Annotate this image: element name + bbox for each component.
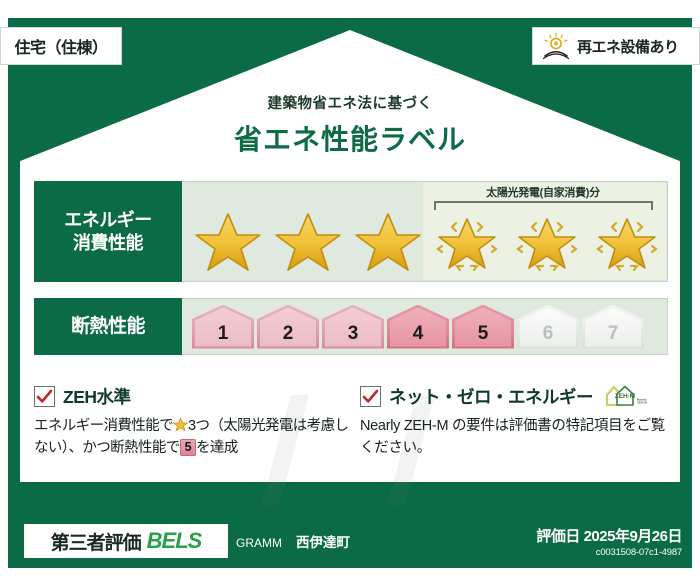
evaluation-code: c0031508-07c1-4987: [536, 547, 682, 558]
footer-evaluation-info: 評価日 2025年9月26日 c0031508-07c1-4987: [536, 525, 692, 558]
insulation-marker: 1: [192, 305, 254, 349]
insulation-marker-num: 1: [218, 323, 229, 345]
star-item: [268, 206, 348, 278]
insulation-row-value: 1 2 3 4 5 6 7: [182, 298, 668, 355]
footer-bar: 第三者評価 BELS GRAMM 西伊達町 評価日 2025年9月26日 c00…: [8, 517, 692, 565]
insulation-key-label: 断熱性能: [71, 315, 145, 339]
title-subtitle: 建築物省エネ法に基づく: [0, 92, 700, 113]
star-item-solar: [427, 206, 507, 278]
star-item-solar: [587, 206, 667, 278]
star-item: [348, 206, 428, 278]
insulation-marker-num: 2: [283, 323, 294, 345]
insulation-marker-strip: 1 2 3 4 5 6 7: [192, 303, 659, 350]
insulation-marker-num: 4: [413, 323, 424, 345]
svg-text:ZEH·M: ZEH·M: [615, 393, 635, 400]
zeh-body-part3: を達成: [196, 440, 238, 456]
insulation-performance-row: 断熱性能 1 2 3 4 5 6 7: [34, 298, 668, 355]
zeh-body-part1: エネルギー消費性能で: [34, 418, 173, 434]
star-rating-strip: [182, 203, 667, 281]
zeh-standard-panel: ZEH水準 エネルギー消費性能で3つ（太陽光発電は考慮しない）、かつ断熱性能で5…: [34, 383, 350, 460]
solar-bracket: [434, 201, 653, 210]
energy-performance-label: 住宅（住棟） 再エネ設備あり 建築物省エネ法に基づく 省エネ性能ラベル: [0, 0, 700, 583]
checkbox-net-zero-energy[interactable]: [360, 386, 381, 407]
evaluation-date: 評価日 2025年9月26日: [536, 525, 682, 546]
insulation-marker: 7: [582, 305, 644, 349]
insulation-marker: 6: [517, 305, 579, 349]
energy-performance-row: エネルギー 消費性能 太陽光発電(自家消費)分: [34, 181, 668, 282]
zeh-standard-title: ZEH水準: [63, 384, 131, 409]
sun-solar-icon: [541, 32, 571, 60]
energy-key-line2: 消費性能: [73, 232, 143, 255]
insulation-marker: 2: [257, 305, 319, 349]
net-zero-title: ネット・ゼロ・エネルギー: [389, 384, 593, 409]
insulation-marker-num: 5: [478, 323, 489, 345]
insulation-marker-num: 7: [608, 323, 619, 345]
insulation-marker-num: 6: [543, 323, 554, 345]
insulation-marker: 5: [452, 305, 514, 349]
zeh-standard-body: エネルギー消費性能で3つ（太陽光発電は考慮しない）、かつ断熱性能で5を達成: [34, 416, 350, 460]
renewable-label: 再エネ設備あり: [577, 36, 679, 57]
star-icon: [173, 417, 188, 432]
star-item: [188, 206, 268, 278]
insulation-row-key: 断熱性能: [34, 298, 182, 355]
bels-logo-text: BELS: [147, 528, 202, 554]
energy-row-key: エネルギー 消費性能: [34, 181, 182, 282]
footer-corp: GRAMM: [236, 536, 282, 550]
page-title: 建築物省エネ法に基づく 省エネ性能ラベル: [0, 92, 700, 158]
svg-text:ZEH·M: ZEH·M: [637, 401, 647, 405]
energy-key-line1: エネルギー: [64, 209, 152, 232]
net-zero-energy-panel: ネット・ゼロ・エネルギー ZEH·M Nearly ZEH·M Nearly Z…: [360, 383, 672, 460]
insulation-marker: 4: [387, 305, 449, 349]
third-party-evaluation-badge: 第三者評価 BELS: [24, 524, 228, 558]
footer-area: 西伊達町: [296, 531, 350, 551]
net-zero-head: ネット・ゼロ・エネルギー ZEH·M Nearly ZEH·M: [360, 383, 672, 409]
star-item-solar: [507, 206, 587, 278]
insulation-grade-badge: 5: [180, 439, 196, 456]
zeh-m-logo-icon: ZEH·M Nearly ZEH·M: [601, 383, 649, 409]
zeh-standard-head: ZEH水準: [34, 383, 350, 409]
energy-row-value: 太陽光発電(自家消費)分: [182, 181, 668, 282]
renewable-equipment-badge: 再エネ設備あり: [532, 27, 700, 65]
insulation-marker: 3: [322, 305, 384, 349]
house-type-badge: 住宅（住棟）: [0, 27, 122, 65]
insulation-marker-num: 3: [348, 323, 359, 345]
house-type-label: 住宅（住棟）: [14, 34, 107, 58]
checkbox-zeh-standard[interactable]: [34, 386, 55, 407]
footer-owner-info: GRAMM 西伊達町: [236, 531, 350, 551]
bels-jp-label: 第三者評価: [51, 528, 141, 555]
net-zero-body: Nearly ZEH-M の要件は評価書の特記項目をご覧ください。: [360, 416, 672, 460]
solar-caption: 太陽光発電(自家消費)分: [423, 184, 663, 200]
title-main: 省エネ性能ラベル: [0, 118, 700, 158]
